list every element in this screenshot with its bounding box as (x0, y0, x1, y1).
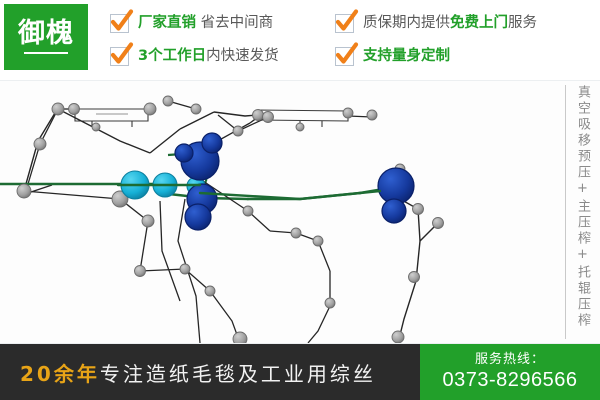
selling-point-1-strong: 厂家直销 (138, 15, 196, 31)
hotline-number[interactable]: 0373-8296566 (442, 368, 577, 392)
selling-point-3-lead: 质保期内提供 (363, 15, 450, 31)
brand-logo: 御槐 (4, 4, 88, 70)
selling-point-2-plain: 内快速发货 (206, 48, 279, 64)
selling-point-1-plain: 省去中间商 (196, 15, 273, 31)
check-icon (110, 47, 129, 66)
machine-diagram-area: 真空吸移预压+主压榨+托辊压榨 (0, 80, 600, 344)
check-icon (110, 14, 129, 33)
selling-point-1: 厂家直销 省去中间商 (110, 8, 273, 38)
selling-point-3: 质保期内提供免费上门服务 (335, 8, 537, 38)
footer-years: 20余年 (20, 362, 100, 386)
brand-logo-underline (24, 52, 68, 54)
blue-rollers (175, 133, 414, 230)
press-section-schematic (0, 81, 600, 343)
selling-point-4-strong: 支持量身定制 (363, 48, 450, 64)
selling-point-3-plain: 服务 (508, 15, 537, 31)
diagram-vertical-caption: 真空吸移预压+主压榨+托辊压榨 (565, 85, 592, 339)
footer-slogan-block: 20余年专注造纸毛毯及工业用综丝 (0, 344, 420, 400)
footer-slogan-text: 专注造纸毛毯及工业用综丝 (100, 362, 376, 386)
promo-banner: 御槐 厂家直销 省去中间商 3个工作日内快速发货 (0, 0, 600, 400)
selling-points-list: 厂家直销 省去中间商 3个工作日内快速发货 质保期内提供免费上门服务 (110, 0, 600, 80)
footer-hotline-block[interactable]: 服务热线： 0373-8296566 (420, 344, 600, 400)
check-icon (335, 47, 354, 66)
selling-point-2: 3个工作日内快速发货 (110, 41, 279, 71)
selling-point-4: 支持量身定制 (335, 41, 450, 71)
hotline-label: 服务热线： (475, 352, 545, 368)
header-bar: 御槐 厂家直销 省去中间商 3个工作日内快速发货 (0, 0, 600, 80)
selling-point-3-strong: 免费上门 (450, 15, 508, 31)
check-icon (335, 14, 354, 33)
footer-bar: 20余年专注造纸毛毯及工业用综丝 服务热线： 0373-8296566 (0, 344, 600, 400)
selling-point-2-strong: 3个工作日 (138, 48, 206, 64)
brand-logo-text: 御槐 (18, 20, 74, 47)
